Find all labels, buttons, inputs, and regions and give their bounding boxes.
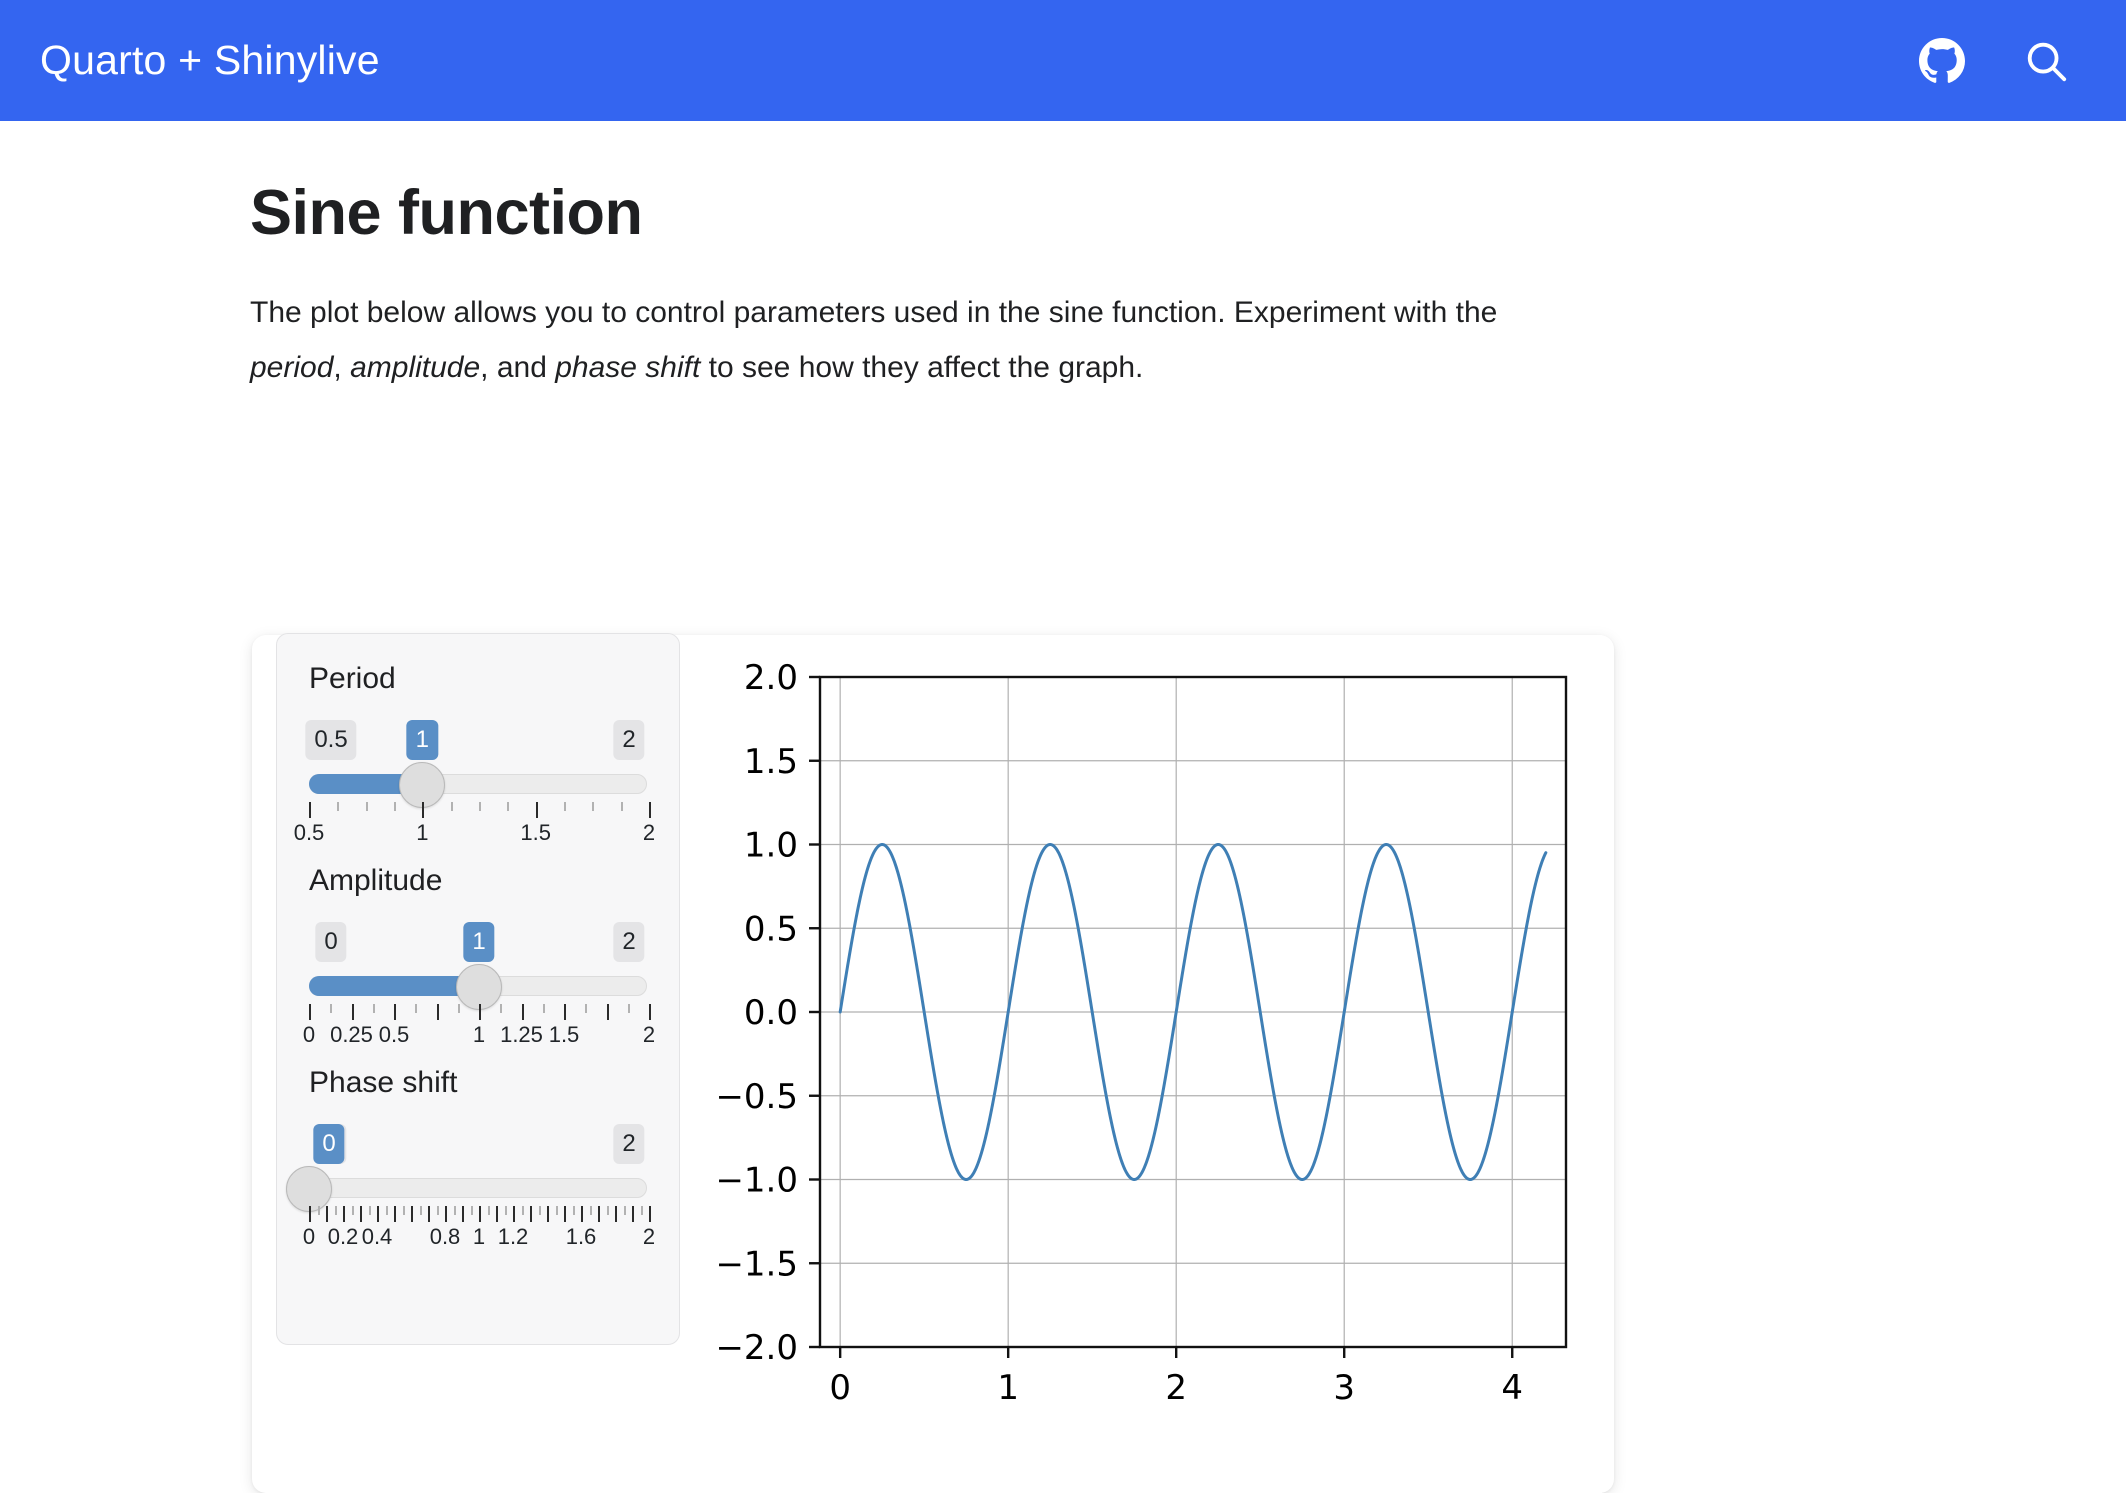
navbar-tools bbox=[1918, 37, 2070, 85]
page-title: Sine function bbox=[250, 121, 1630, 249]
slider-tick bbox=[335, 1206, 337, 1215]
slider-group-period: Period0.5210.511.52 bbox=[309, 662, 647, 854]
slider-tick-labels-amplitude: 00.250.511.251.52 bbox=[309, 1022, 647, 1056]
desc-sep-1: , bbox=[333, 351, 350, 384]
slider-rail-amplitude[interactable] bbox=[309, 968, 647, 1002]
slider-tick bbox=[547, 1206, 549, 1222]
slider-tick bbox=[479, 1206, 481, 1222]
slider-label-period: Period bbox=[309, 662, 647, 696]
slider-tick bbox=[309, 1206, 311, 1222]
slider-rail-period[interactable] bbox=[309, 766, 647, 800]
slider-tick-label: 0.5 bbox=[294, 820, 325, 846]
slider-tick bbox=[641, 1206, 643, 1215]
slider-tick bbox=[522, 1206, 524, 1215]
slider-max-bubble-amplitude: 2 bbox=[613, 922, 644, 962]
slider-tick-label: 0 bbox=[303, 1022, 315, 1048]
slider-tick bbox=[556, 1206, 558, 1215]
slider-tick bbox=[337, 802, 339, 811]
slider-tick-label: 0.4 bbox=[362, 1224, 393, 1250]
slider-tick bbox=[496, 1206, 498, 1222]
slider-tick bbox=[513, 1206, 515, 1222]
slider-bubbles-phase-shift: 020 bbox=[309, 1124, 647, 1164]
slider-tick-label: 1.2 bbox=[498, 1224, 529, 1250]
github-icon[interactable] bbox=[1918, 37, 1966, 85]
slider-tick-label: 0 bbox=[303, 1224, 315, 1250]
slider-tick-label: 2 bbox=[643, 1224, 655, 1250]
slider-tick bbox=[386, 1206, 388, 1215]
svg-text:0: 0 bbox=[829, 1368, 851, 1408]
slider-tick bbox=[592, 802, 594, 811]
slider-tick bbox=[428, 1206, 430, 1222]
slider-group-amplitude: Amplitude02100.250.511.251.52 bbox=[309, 864, 647, 1056]
desc-em-phase-shift: phase shift bbox=[555, 351, 700, 384]
slider-tick-label: 0.5 bbox=[379, 1022, 410, 1048]
slider-min-bubble-period: 0.5 bbox=[305, 720, 356, 760]
slider-fill-amplitude bbox=[309, 976, 479, 996]
slider-tick bbox=[352, 1206, 354, 1215]
slider-value-bubble-period: 1 bbox=[407, 720, 438, 760]
svg-text:0.5: 0.5 bbox=[744, 909, 798, 949]
slider-tick-label: 1.25 bbox=[500, 1022, 543, 1048]
slider-tick bbox=[458, 1004, 460, 1013]
slider-tick bbox=[403, 1206, 405, 1215]
slider-tick bbox=[326, 1206, 328, 1222]
slider-tick bbox=[411, 1206, 413, 1222]
slider-tick bbox=[621, 802, 623, 811]
slider-tick bbox=[451, 802, 453, 811]
slider-ticks-period bbox=[309, 802, 647, 818]
svg-text:0.0: 0.0 bbox=[744, 993, 798, 1033]
slider-tick bbox=[360, 1206, 362, 1222]
slider-tick bbox=[624, 1206, 626, 1215]
slider-tick bbox=[394, 802, 396, 811]
svg-text:−1.5: −1.5 bbox=[715, 1244, 798, 1284]
slider-tick bbox=[522, 1004, 524, 1020]
slider-tick-label: 1 bbox=[416, 820, 428, 846]
slider-tick bbox=[581, 1206, 583, 1222]
slider-tick-label: 0.8 bbox=[430, 1224, 461, 1250]
slider-tick bbox=[420, 1206, 422, 1215]
svg-text:1.0: 1.0 bbox=[744, 826, 798, 866]
desc-text-1: The plot below allows you to control par… bbox=[250, 296, 1497, 329]
page-description: The plot below allows you to control par… bbox=[250, 249, 1585, 395]
slider-tick bbox=[539, 1206, 541, 1215]
slider-tick bbox=[369, 1206, 371, 1215]
slider-tick bbox=[628, 1004, 630, 1013]
slider-tick bbox=[366, 802, 368, 811]
slider-tick bbox=[471, 1206, 473, 1215]
desc-text-2: to see how they affect the graph. bbox=[700, 351, 1143, 384]
navbar-title: Quarto + Shinylive bbox=[40, 37, 380, 84]
slider-tick bbox=[394, 1004, 396, 1020]
slider-tick bbox=[318, 1206, 320, 1215]
slider-ticks-amplitude bbox=[309, 1004, 647, 1020]
svg-text:2: 2 bbox=[1165, 1368, 1187, 1408]
sine-plot: 01234−2.0−1.5−1.0−0.50.00.51.01.52.0 bbox=[682, 635, 1602, 1493]
slider-tick bbox=[330, 1004, 332, 1013]
slider-track-phase-shift[interactable] bbox=[309, 1178, 647, 1198]
slider-tick bbox=[607, 1004, 609, 1020]
slider-tick bbox=[590, 1206, 592, 1215]
slider-tick bbox=[632, 1206, 634, 1222]
slider-tick bbox=[649, 1206, 651, 1222]
svg-text:3: 3 bbox=[1333, 1368, 1355, 1408]
slider-tick bbox=[394, 1206, 396, 1222]
slider-tick bbox=[454, 1206, 456, 1215]
slider-bubbles-amplitude: 021 bbox=[309, 922, 647, 962]
slider-tick bbox=[373, 1004, 375, 1013]
svg-text:−2.0: −2.0 bbox=[715, 1328, 798, 1368]
slider-tick bbox=[479, 1004, 481, 1020]
slider-bubbles-period: 0.521 bbox=[309, 720, 647, 760]
slider-tick bbox=[309, 802, 311, 818]
slider-ticks-phase-shift bbox=[309, 1206, 647, 1222]
slider-tick-label: 0.25 bbox=[330, 1022, 373, 1048]
slider-tick bbox=[607, 1206, 609, 1215]
search-icon[interactable] bbox=[2022, 37, 2070, 85]
slider-tick bbox=[343, 1206, 345, 1222]
slider-tick bbox=[649, 802, 651, 818]
slider-label-phase-shift: Phase shift bbox=[309, 1066, 647, 1100]
slider-tick bbox=[615, 1206, 617, 1222]
svg-text:−0.5: −0.5 bbox=[715, 1077, 798, 1117]
slider-tick bbox=[462, 1206, 464, 1222]
slider-max-bubble-period: 2 bbox=[613, 720, 644, 760]
slider-tick bbox=[598, 1206, 600, 1222]
slider-tick bbox=[488, 1206, 490, 1215]
slider-tick bbox=[415, 1004, 417, 1013]
svg-text:1: 1 bbox=[997, 1368, 1019, 1408]
slider-tick bbox=[309, 1004, 311, 1020]
slider-tick bbox=[479, 802, 481, 811]
slider-label-amplitude: Amplitude bbox=[309, 864, 647, 898]
slider-tick bbox=[422, 802, 424, 818]
slider-tick bbox=[500, 1004, 502, 1013]
svg-text:4: 4 bbox=[1501, 1368, 1523, 1408]
slider-tick-label: 1.5 bbox=[520, 820, 551, 846]
slider-group-phase-shift: Phase shift02000.20.40.811.21.62 bbox=[309, 1066, 647, 1258]
slider-value-bubble-amplitude: 1 bbox=[463, 922, 494, 962]
svg-text:2.0: 2.0 bbox=[744, 658, 798, 698]
slider-tick bbox=[437, 1004, 439, 1020]
slider-tick bbox=[564, 1206, 566, 1222]
slider-tick-label: 1.6 bbox=[566, 1224, 597, 1250]
desc-em-period: period bbox=[250, 351, 333, 384]
svg-text:−1.0: −1.0 bbox=[715, 1161, 798, 1201]
slider-rail-phase-shift[interactable] bbox=[309, 1170, 647, 1204]
slider-tick-label: 2 bbox=[643, 1022, 655, 1048]
slider-min-bubble-amplitude: 0 bbox=[315, 922, 346, 962]
slider-tick bbox=[445, 1206, 447, 1222]
slider-tick bbox=[585, 1004, 587, 1013]
page-body: Sine function The plot below allows you … bbox=[0, 121, 2126, 1438]
slider-tick bbox=[649, 1004, 651, 1020]
slider-tick bbox=[536, 802, 538, 818]
slider-tick-label: 1 bbox=[473, 1022, 485, 1048]
slider-max-bubble-phase-shift: 2 bbox=[613, 1124, 644, 1164]
slider-tick bbox=[377, 1206, 379, 1222]
shinylive-app-card: Period0.5210.511.52Amplitude02100.250.51… bbox=[252, 635, 1614, 1493]
slider-tick bbox=[564, 802, 566, 811]
slider-tick bbox=[437, 1206, 439, 1215]
slider-tick bbox=[352, 1004, 354, 1020]
slider-tick-label: 0.2 bbox=[328, 1224, 359, 1250]
slider-tick bbox=[573, 1206, 575, 1215]
svg-text:1.5: 1.5 bbox=[744, 742, 798, 782]
slider-tick-label: 1.5 bbox=[549, 1022, 580, 1048]
slider-tick bbox=[543, 1004, 545, 1013]
slider-tick bbox=[507, 802, 509, 811]
slider-tick bbox=[530, 1206, 532, 1222]
slider-tick bbox=[505, 1206, 507, 1215]
slider-tick-labels-phase-shift: 00.20.40.811.21.62 bbox=[309, 1224, 647, 1258]
desc-em-amplitude: amplitude bbox=[350, 351, 480, 384]
navbar: Quarto + Shinylive bbox=[0, 0, 2126, 121]
slider-tick-labels-period: 0.511.52 bbox=[309, 820, 647, 854]
slider-tick-label: 2 bbox=[643, 820, 655, 846]
slider-value-bubble-phase-shift: 0 bbox=[313, 1124, 344, 1164]
content-column: Sine function The plot below allows you … bbox=[250, 121, 1630, 395]
slider-tick-label: 1 bbox=[473, 1224, 485, 1250]
desc-sep-2: , and bbox=[480, 351, 555, 384]
slider-tick bbox=[564, 1004, 566, 1020]
sidebar-controls-panel: Period0.5210.511.52Amplitude02100.250.51… bbox=[276, 633, 680, 1345]
